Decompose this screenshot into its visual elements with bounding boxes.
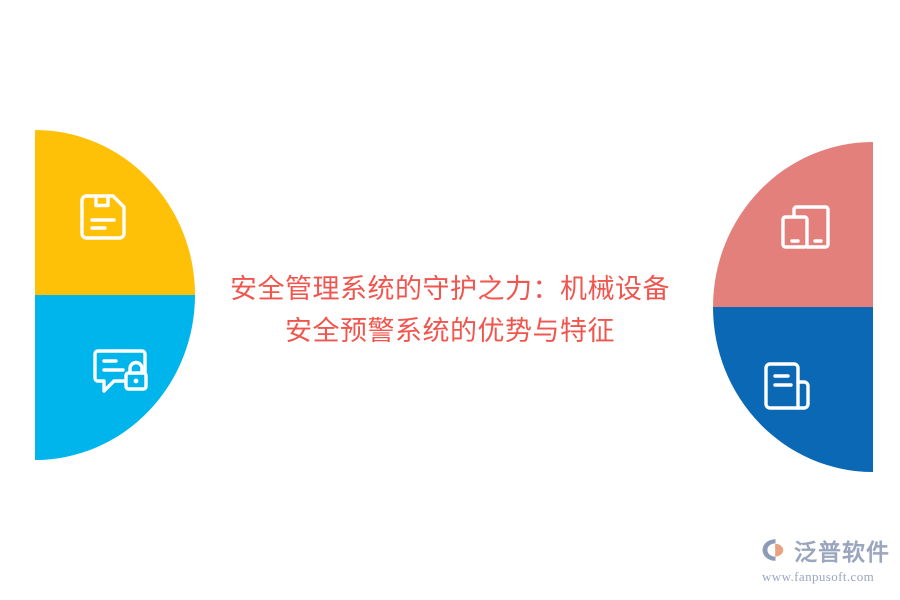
fanpu-c-logo-icon <box>760 537 790 568</box>
watermark-logo: 泛普软件 www.fanpusoft.com <box>760 537 890 584</box>
document-save-icon <box>75 189 131 245</box>
watermark-url: www.fanpusoft.com <box>762 569 874 584</box>
document-book-icon <box>760 358 814 414</box>
right-leaf-bottom-quadrant <box>713 307 873 472</box>
right-leaf-shape <box>713 142 873 472</box>
right-leaf-top-quadrant <box>713 142 873 307</box>
watermark-brand-name: 泛普软件 <box>794 540 890 565</box>
page-title-line-2: 安全预警系统的优势与特征 <box>170 310 730 352</box>
page-title: 安全管理系统的守护之力：机械设备 安全预警系统的优势与特征 <box>170 268 730 352</box>
banner-canvas: 安全管理系统的守护之力：机械设备 安全预警系统的优势与特征 泛普软件 www.f… <box>0 0 900 600</box>
page-title-line-1: 安全管理系统的守护之力：机械设备 <box>170 268 730 310</box>
devices-icon <box>777 201 833 253</box>
chat-lock-icon <box>90 345 152 399</box>
watermark-logo-row: 泛普软件 <box>760 537 890 568</box>
